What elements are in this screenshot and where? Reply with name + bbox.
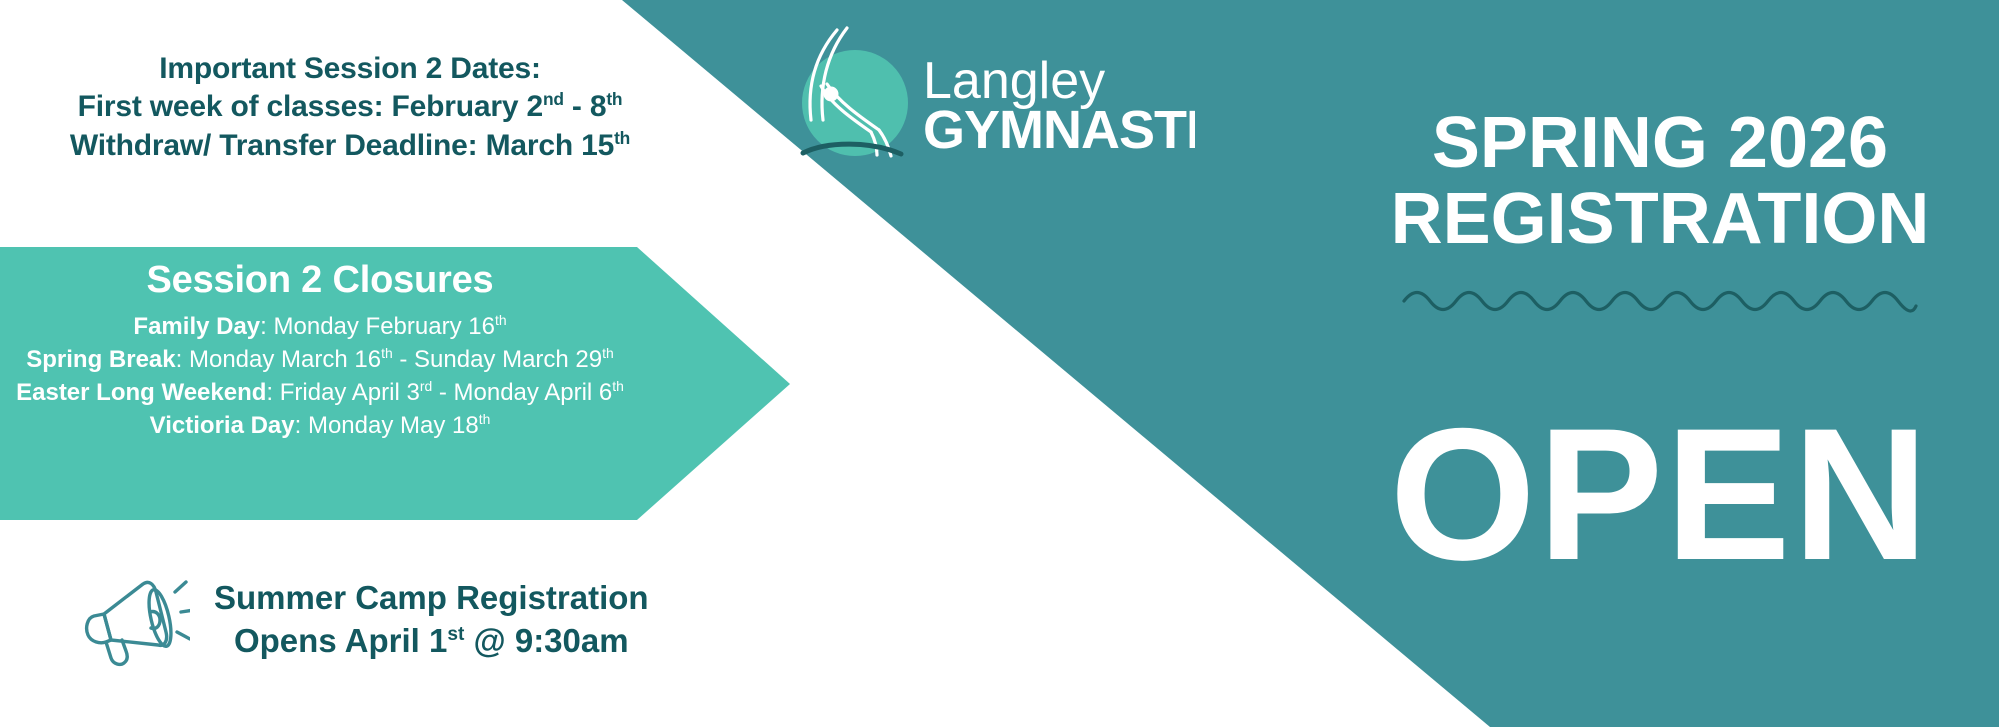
- closures-list: Family Day: Monday February 16th Spring …: [0, 310, 790, 442]
- registration-line-2: REGISTRATION: [1330, 181, 1990, 257]
- first-week-sup-1: nd: [543, 89, 564, 109]
- closure-label: Family Day: [133, 313, 260, 340]
- closure-tail-sup: th: [602, 345, 614, 361]
- closure-tail: - Sunday March 29: [393, 346, 602, 373]
- registration-line-1: SPRING 2026: [1330, 105, 1990, 181]
- closure-label: Easter Long Weekend: [16, 379, 266, 406]
- important-dates-heading: Important Session 2 Dates:: [0, 50, 700, 88]
- registration-headline-block: SPRING 2026 REGISTRATION: [1330, 105, 1990, 323]
- closure-sep: :: [266, 379, 279, 406]
- summer-camp-time: @ 9:30am: [464, 622, 628, 659]
- withdraw-deadline-line: Withdraw/ Transfer Deadline: March 15th: [0, 127, 700, 165]
- summer-camp-announcement: Summer Camp Registration Opens April 1st…: [0, 560, 730, 680]
- closure-sup: th: [479, 411, 491, 427]
- gymnast-head-icon: [824, 87, 839, 102]
- closures-title: Session 2 Closures: [0, 259, 790, 303]
- logo-gymnastics-text: GYMNASTICS: [923, 100, 1195, 160]
- list-item: Spring Break: Monday March 16th - Sunday…: [0, 343, 640, 376]
- closure-text: Monday May 18: [308, 412, 479, 439]
- first-week-of-classes-line: First week of classes: February 2nd - 8t…: [0, 88, 700, 126]
- closure-label: Victioria Day: [150, 412, 295, 439]
- summer-camp-line-2: Opens April 1st @ 9:30am: [214, 620, 649, 663]
- important-session-dates: Important Session 2 Dates: First week of…: [0, 50, 700, 165]
- session-closures-banner: Session 2 Closures Family Day: Monday Fe…: [0, 247, 790, 520]
- list-item: Easter Long Weekend: Friday April 3rd - …: [0, 376, 640, 409]
- list-item: Family Day: Monday February 16th: [0, 310, 640, 343]
- closure-text: Friday April 3: [280, 379, 420, 406]
- closure-sep: :: [176, 346, 189, 373]
- summer-camp-sup: st: [447, 624, 464, 645]
- registration-status-open: OPEN: [1330, 400, 1990, 588]
- closure-text: Monday February 16: [274, 313, 495, 340]
- first-week-sup-2: th: [606, 89, 622, 109]
- list-item: Victioria Day: Monday May 18th: [0, 409, 640, 442]
- summer-camp-text: Summer Camp Registration Opens April 1st…: [214, 577, 649, 663]
- closure-sup: th: [495, 312, 507, 328]
- logo-artwork: Langley GYMNASTICS: [775, 8, 1195, 168]
- first-week-text: First week of classes: February 2: [78, 90, 543, 123]
- closure-text: Monday March 16: [189, 346, 381, 373]
- summer-camp-line-1: Summer Camp Registration: [214, 577, 649, 620]
- closure-sup: th: [381, 345, 393, 361]
- closure-tail-sup: th: [612, 378, 624, 394]
- closure-sup: rd: [420, 378, 432, 394]
- closure-sep: :: [295, 412, 308, 439]
- summer-camp-opens-text: Opens April 1: [234, 622, 447, 659]
- closure-tail: - Monday April 6: [432, 379, 612, 406]
- closure-label: Spring Break: [26, 346, 175, 373]
- first-week-mid: - 8: [564, 90, 607, 123]
- withdraw-deadline-sup: th: [614, 128, 630, 148]
- wavy-line-divider-icon: [1400, 284, 1920, 318]
- closure-sep: :: [260, 313, 273, 340]
- megaphone-icon: [80, 570, 190, 670]
- langley-gymnastics-logo[interactable]: Langley GYMNASTICS: [775, 8, 1195, 168]
- withdraw-deadline-text: Withdraw/ Transfer Deadline: March 15: [70, 129, 614, 162]
